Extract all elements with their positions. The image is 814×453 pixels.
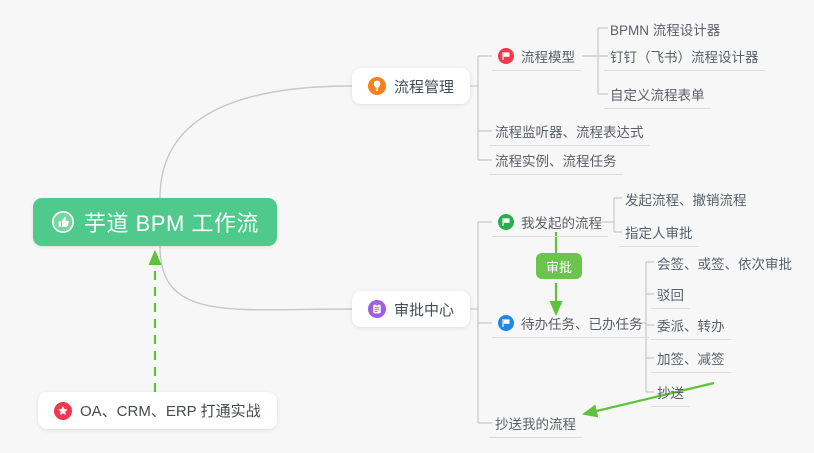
node-label: 指定人审批 [625, 222, 693, 242]
branch-approval-center[interactable]: 审批中心 [352, 291, 470, 327]
flag-blue-icon [498, 315, 514, 331]
branch-process-management[interactable]: 流程管理 [352, 68, 470, 104]
node-my-initiated-process[interactable]: 我发起的流程 [492, 208, 608, 237]
node-label: 我发起的流程 [521, 212, 602, 232]
node-label: 流程监听器、流程表达式 [495, 121, 644, 141]
node-reject[interactable]: 驳回 [651, 280, 690, 309]
lightbulb-icon [368, 77, 386, 95]
clipboard-icon [368, 300, 386, 318]
node-label: 会签、或签、依次审批 [657, 253, 792, 273]
node-label: 流程模型 [521, 46, 575, 66]
node-label: 加签、减签 [657, 348, 725, 368]
node-assignee-approval[interactable]: 指定人审批 [619, 218, 699, 247]
branch-label: 流程管理 [394, 76, 454, 97]
node-bpmn-designer[interactable]: BPMN 流程设计器 [604, 14, 726, 43]
mindmap-canvas: 芋道 BPM 工作流 OA、CRM、ERP 打通实战 流程管理 [0, 0, 814, 453]
node-cc[interactable]: 抄送 [651, 378, 690, 407]
root-node[interactable]: 芋道 BPM 工作流 [33, 198, 277, 246]
callout-label: OA、CRM、ERP 打通实战 [80, 400, 261, 421]
node-label: 流程实例、流程任务 [495, 150, 617, 170]
node-start-cancel-process[interactable]: 发起流程、撤销流程 [619, 184, 753, 213]
node-custom-process-form[interactable]: 自定义流程表单 [604, 80, 711, 109]
branch-label: 审批中心 [394, 299, 454, 320]
flag-red-icon [498, 48, 514, 64]
node-label: 发起流程、撤销流程 [625, 189, 747, 209]
node-dingtalk-feishu-designer[interactable]: 钉钉（飞书）流程设计器 [604, 42, 765, 71]
node-label: 自定义流程表单 [610, 84, 705, 104]
annotation-arrow-cc [584, 383, 714, 414]
node-process-listener-expression[interactable]: 流程监听器、流程表达式 [489, 117, 650, 146]
node-todo-done-tasks[interactable]: 待办任务、已办任务 [492, 309, 649, 338]
annotation-chip-approval: 审批 [536, 253, 582, 279]
node-process-instance-task[interactable]: 流程实例、流程任务 [489, 146, 623, 175]
node-label: 驳回 [657, 284, 684, 304]
node-label: 委派、转办 [657, 315, 725, 335]
node-label: BPMN 流程设计器 [610, 19, 720, 39]
callout-node[interactable]: OA、CRM、ERP 打通实战 [38, 392, 277, 429]
node-delegate-transfer[interactable]: 委派、转办 [651, 311, 731, 340]
node-label: 钉钉（飞书）流程设计器 [610, 46, 759, 66]
connector-root-to-approval-center [160, 246, 352, 310]
node-cc-to-me-process[interactable]: 抄送我的流程 [489, 409, 582, 438]
node-process-model[interactable]: 流程模型 [492, 42, 581, 71]
star-icon [54, 402, 72, 420]
connector-root-to-process-management [160, 86, 352, 198]
flag-green-icon [498, 214, 514, 230]
root-label: 芋道 BPM 工作流 [84, 206, 259, 238]
node-add-remove-sign[interactable]: 加签、减签 [651, 344, 731, 373]
node-label: 抄送我的流程 [495, 413, 576, 433]
node-label: 待办任务、已办任务 [521, 313, 643, 333]
node-countersign[interactable]: 会签、或签、依次审批 [651, 248, 798, 277]
thumbs-up-icon [51, 210, 75, 234]
annotation-chip-label: 审批 [546, 257, 572, 276]
node-label: 抄送 [657, 382, 684, 402]
